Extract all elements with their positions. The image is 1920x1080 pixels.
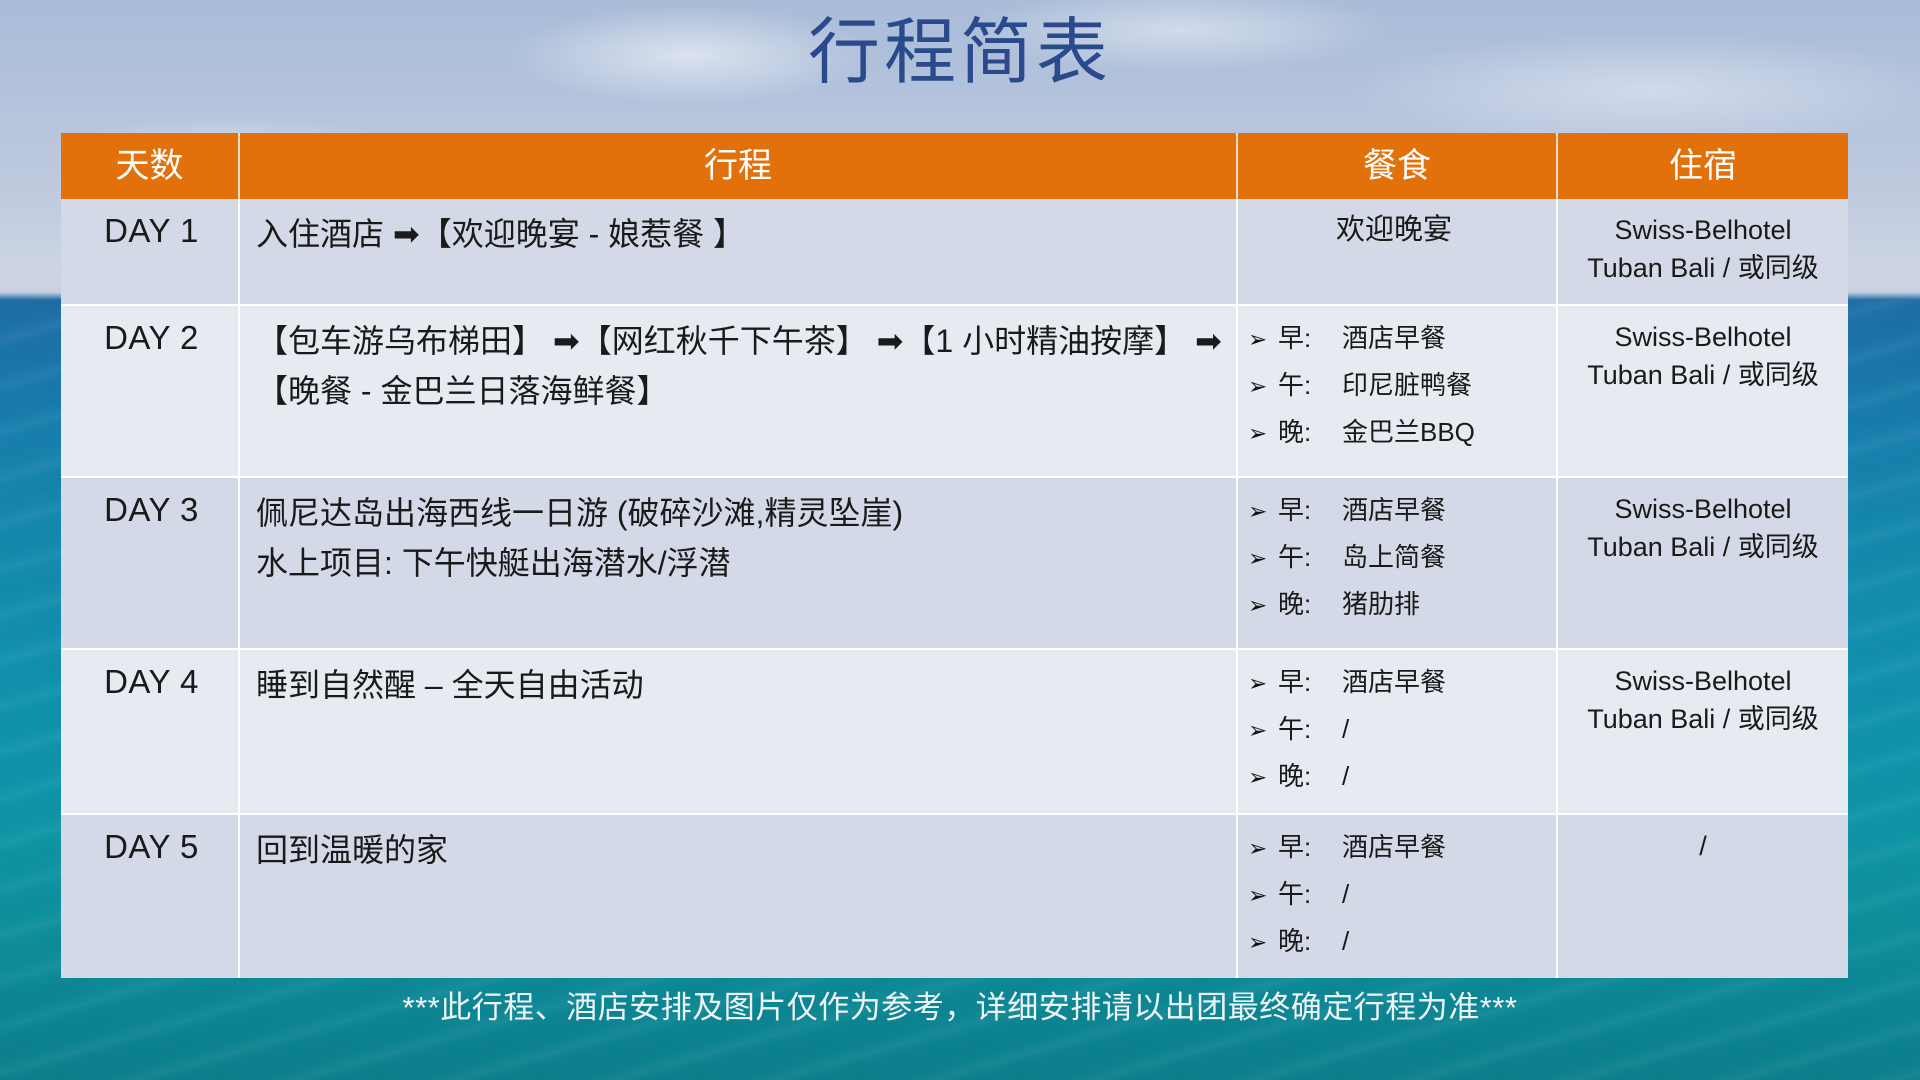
arrow-bullet-icon: ➢: [1248, 318, 1278, 363]
column-header-hotel: 住宿: [1557, 133, 1848, 199]
arrow-bullet-icon: ➢: [1248, 874, 1278, 919]
route-line: 入住酒店 ➡【欢迎晚宴 - 娘惹餐 】: [256, 209, 1222, 259]
arrow-bullet-icon: ➢: [1248, 662, 1278, 707]
meal-label: 晚:: [1278, 754, 1342, 799]
cell-meal: 欢迎晚宴: [1237, 199, 1557, 305]
table-row: DAY 5回到温暖的家➢早:酒店早餐➢午:/➢晚://: [61, 814, 1848, 978]
cell-day: DAY 5: [61, 814, 239, 978]
table-row: DAY 1入住酒店 ➡【欢迎晚宴 - 娘惹餐 】欢迎晚宴Swiss-Belhot…: [61, 199, 1848, 305]
meal-value: 酒店早餐: [1342, 660, 1550, 705]
table-header: 天数 行程 餐食 住宿: [61, 133, 1848, 199]
hotel-line: Swiss-Belhotel: [1558, 318, 1848, 356]
meal-list: ➢早:酒店早餐➢午:/➢晚:/: [1248, 825, 1550, 966]
arrow-bullet-icon: ➢: [1248, 365, 1278, 410]
meal-label: 早:: [1278, 316, 1342, 361]
meal-list-item: ➢晚:/: [1248, 919, 1550, 966]
meal-list: ➢早:酒店早餐➢午:印尼脏鸭餐➢晚:金巴兰BBQ: [1248, 316, 1550, 457]
cell-meal: ➢早:酒店早餐➢午:/➢晚:/: [1237, 649, 1557, 814]
meal-value: /: [1342, 919, 1550, 964]
meal-label: 晚:: [1278, 919, 1342, 964]
meal-value: 酒店早餐: [1342, 316, 1550, 361]
meal-list-item: ➢晚:金巴兰BBQ: [1248, 410, 1550, 457]
cell-day: DAY 4: [61, 649, 239, 814]
cell-day: DAY 2: [61, 305, 239, 477]
column-header-route: 行程: [239, 133, 1237, 199]
route-line: 睡到自然醒 – 全天自由活动: [256, 660, 1222, 710]
meal-label: 午:: [1278, 535, 1342, 580]
meal-label: 早:: [1278, 660, 1342, 705]
table-row: DAY 2【包车游乌布梯田】 ➡【网红秋千下午茶】 ➡【1 小时精油按摩】 ➡【…: [61, 305, 1848, 477]
meal-list-item: ➢午:/: [1248, 707, 1550, 754]
cell-hotel: Swiss-BelhotelTuban Bali / 或同级: [1557, 477, 1848, 649]
cell-hotel: Swiss-BelhotelTuban Bali / 或同级: [1557, 199, 1848, 305]
cell-meal: ➢早:酒店早餐➢午:岛上简餐➢晚:猪肋排: [1237, 477, 1557, 649]
arrow-bullet-icon: ➢: [1248, 921, 1278, 966]
meal-value: 金巴兰BBQ: [1342, 410, 1550, 455]
cell-meal: ➢早:酒店早餐➢午:印尼脏鸭餐➢晚:金巴兰BBQ: [1237, 305, 1557, 477]
table-body: DAY 1入住酒店 ➡【欢迎晚宴 - 娘惹餐 】欢迎晚宴Swiss-Belhot…: [61, 199, 1848, 978]
table-header-row: 天数 行程 餐食 住宿: [61, 133, 1848, 199]
meal-list-item: ➢午:印尼脏鸭餐: [1248, 363, 1550, 410]
route-line: 佩尼达岛出海西线一日游 (破碎沙滩,精灵坠崖): [256, 488, 1222, 538]
meal-value: /: [1342, 754, 1550, 799]
hotel-line: Tuban Bali / 或同级: [1558, 356, 1848, 394]
route-line: 水上项目: 下午快艇出海潜水/浮潜: [256, 538, 1222, 588]
cell-hotel: Swiss-BelhotelTuban Bali / 或同级: [1557, 305, 1848, 477]
meal-value: 印尼脏鸭餐: [1342, 363, 1550, 408]
table-row: DAY 3佩尼达岛出海西线一日游 (破碎沙滩,精灵坠崖)水上项目: 下午快艇出海…: [61, 477, 1848, 649]
arrow-bullet-icon: ➢: [1248, 537, 1278, 582]
meal-label: 午:: [1278, 363, 1342, 408]
meal-list-item: ➢早:酒店早餐: [1248, 316, 1550, 363]
arrow-bullet-icon: ➢: [1248, 709, 1278, 754]
meal-label: 午:: [1278, 707, 1342, 752]
hotel-line: Swiss-Belhotel: [1558, 211, 1848, 249]
meal-list-item: ➢午:/: [1248, 872, 1550, 919]
arrow-bullet-icon: ➢: [1248, 756, 1278, 801]
arrow-bullet-icon: ➢: [1248, 827, 1278, 872]
meal-value: 猪肋排: [1342, 582, 1550, 627]
arrow-bullet-icon: ➢: [1248, 490, 1278, 535]
meal-list-item: ➢晚:猪肋排: [1248, 582, 1550, 629]
meal-list-item: ➢早:酒店早餐: [1248, 488, 1550, 535]
hotel-line: Tuban Bali / 或同级: [1558, 700, 1848, 738]
hotel-line: Swiss-Belhotel: [1558, 662, 1848, 700]
meal-value: 酒店早餐: [1342, 825, 1550, 870]
cell-route: 入住酒店 ➡【欢迎晚宴 - 娘惹餐 】: [239, 199, 1237, 305]
meal-label: 早:: [1278, 825, 1342, 870]
meal-value: /: [1342, 707, 1550, 752]
meal-list: ➢早:酒店早餐➢午:/➢晚:/: [1248, 660, 1550, 801]
disclaimer-footnote: ***此行程、酒店安排及图片仅作为参考，详细安排请以出团最终确定行程为准***: [0, 986, 1920, 1030]
meal-value: 岛上简餐: [1342, 535, 1550, 580]
cell-route: 回到温暖的家: [239, 814, 1237, 978]
table-row: DAY 4睡到自然醒 – 全天自由活动➢早:酒店早餐➢午:/➢晚:/Swiss-…: [61, 649, 1848, 814]
meal-label: 晚:: [1278, 410, 1342, 455]
arrow-bullet-icon: ➢: [1248, 584, 1278, 629]
meal-value: 酒店早餐: [1342, 488, 1550, 533]
cell-day: DAY 1: [61, 199, 239, 305]
hotel-line: Tuban Bali / 或同级: [1558, 249, 1848, 287]
cell-hotel: /: [1557, 814, 1848, 978]
meal-value: /: [1342, 872, 1550, 917]
arrow-bullet-icon: ➢: [1248, 412, 1278, 457]
itinerary-table-container: 天数 行程 餐食 住宿 DAY 1入住酒店 ➡【欢迎晚宴 - 娘惹餐 】欢迎晚宴…: [61, 133, 1848, 978]
meal-list: ➢早:酒店早餐➢午:岛上简餐➢晚:猪肋排: [1248, 488, 1550, 629]
hotel-line: Tuban Bali / 或同级: [1558, 528, 1848, 566]
cell-route: 佩尼达岛出海西线一日游 (破碎沙滩,精灵坠崖)水上项目: 下午快艇出海潜水/浮潜: [239, 477, 1237, 649]
route-line: 【包车游乌布梯田】 ➡【网红秋千下午茶】 ➡【1 小时精油按摩】 ➡【晚餐 - …: [256, 316, 1222, 416]
cell-hotel: Swiss-BelhotelTuban Bali / 或同级: [1557, 649, 1848, 814]
meal-label: 早:: [1278, 488, 1342, 533]
cell-meal: ➢早:酒店早餐➢午:/➢晚:/: [1237, 814, 1557, 978]
cell-route: 【包车游乌布梯田】 ➡【网红秋千下午茶】 ➡【1 小时精油按摩】 ➡【晚餐 - …: [239, 305, 1237, 477]
meal-list-item: ➢早:酒店早餐: [1248, 660, 1550, 707]
meal-list-item: ➢早:酒店早餐: [1248, 825, 1550, 872]
hotel-line: /: [1558, 827, 1848, 865]
meal-label: 午:: [1278, 872, 1342, 917]
column-header-meal: 餐食: [1237, 133, 1557, 199]
hotel-line: Swiss-Belhotel: [1558, 490, 1848, 528]
page-title: 行程简表: [0, 6, 1920, 100]
itinerary-table: 天数 行程 餐食 住宿 DAY 1入住酒店 ➡【欢迎晚宴 - 娘惹餐 】欢迎晚宴…: [61, 133, 1848, 978]
meal-list-item: ➢午:岛上简餐: [1248, 535, 1550, 582]
route-line: 回到温暖的家: [256, 825, 1222, 875]
cell-route: 睡到自然醒 – 全天自由活动: [239, 649, 1237, 814]
cell-day: DAY 3: [61, 477, 239, 649]
meal-label: 晚:: [1278, 582, 1342, 627]
meal-list-item: ➢晚:/: [1248, 754, 1550, 801]
column-header-day: 天数: [61, 133, 239, 199]
